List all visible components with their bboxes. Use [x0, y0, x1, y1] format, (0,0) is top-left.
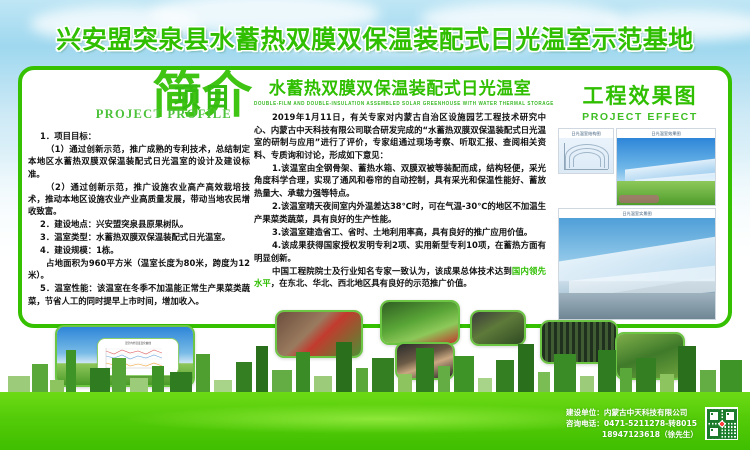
conclusion-post: ，在东北、华北、西北地区具有良好的示范推广价值。: [271, 278, 472, 288]
phone-value: 0471-5211278-转8015: [604, 419, 697, 428]
left-para: 1．项目目标：: [28, 130, 250, 142]
effect-card-caption: 日光温室结构图: [559, 129, 613, 138]
structure-diagram-image: [559, 138, 613, 173]
left-para: （1）通过创新示范，推广成熟的专利技术，总结制定本地区水蓄热双膜双保温装配式日光…: [28, 143, 250, 180]
middle-body-text: 2019年1月11日，有关专家对内蒙古自治区设施园艺工程技术研究中心、内蒙古中天…: [254, 111, 546, 290]
middle-heading-en: DOUBLE-FILM AND DOUBLE-INSULATION ASSEMB…: [254, 101, 546, 107]
mid-para: 4.该成果获得国家授权发明专利2项、实用新型专利10项，在蓄热方面有明显创新。: [254, 239, 546, 264]
right-heading-en: PROJECT EFFECT: [550, 111, 728, 123]
poster-main-title: 兴安盟突泉县水蓄热双膜双保温装配式日光温室示范基地: [56, 22, 694, 58]
left-para: 4．建设规模：1栋。: [28, 244, 250, 256]
mid-para: 1.该温室由全钢骨架、蓄热水箱、双膜双被等装配而成，结构轻便，采光角度科学合理，…: [254, 162, 546, 200]
left-body-text: 1．项目目标： （1）通过创新示范，推广成熟的专利技术，总结制定本地区水蓄热双膜…: [28, 130, 250, 307]
qr-code-pattern: [707, 409, 737, 439]
left-heading: 简介 项目 PROJECT PROFILE: [28, 74, 250, 130]
ground-highlight: [120, 404, 640, 434]
content-frame: 简介 项目 PROJECT PROFILE 1．项目目标： （1）通过创新示范，…: [18, 66, 732, 328]
footer-phone-row: 咨询电话：0471-5211278-转8015: [566, 418, 698, 429]
effect-card-caption: 日光温室实景图: [559, 209, 715, 218]
main-title-band: 兴安盟突泉县水蓄热双膜双保温装配式日光温室示范基地: [0, 22, 750, 58]
qr-center-logo: [719, 421, 725, 427]
city-skyline: [0, 336, 750, 398]
effect-card-structure[interactable]: 日光温室结构图: [558, 128, 614, 174]
middle-column: 水蓄热双膜双保温装配式日光温室 DOUBLE-FILM AND DOUBLE-I…: [254, 74, 546, 324]
builder-value: 内蒙古中天科技有限公司: [604, 408, 688, 417]
middle-heading: 水蓄热双膜双保温装配式日光温室 DOUBLE-FILM AND DOUBLE-I…: [254, 74, 546, 106]
middle-heading-cn: 水蓄热双膜双保温装配式日光温室: [254, 74, 546, 99]
mobile-value: 18947123618（徐先生）: [602, 430, 698, 439]
footer-contact: 建设单位：内蒙古中天科技有限公司 咨询电话：0471-5211278-转8015…: [566, 407, 738, 440]
qr-code[interactable]: [705, 407, 738, 440]
conclusion-pre: 中国工程院院士及行业知名专家一致认为，该成果总体技术达到: [272, 266, 512, 276]
right-heading: 工程效果图 PROJECT EFFECT: [550, 74, 728, 123]
phone-label: 咨询电话：: [566, 419, 604, 428]
builder-label: 建设单位：: [566, 408, 604, 417]
effect-card-caption: 日光温室效果图: [617, 129, 715, 138]
footer-text-block: 建设单位：内蒙古中天科技有限公司 咨询电话：0471-5211278-转8015…: [566, 407, 698, 440]
effect-card-rendering[interactable]: 日光温室效果图: [616, 128, 716, 206]
poster-canvas: 兴安盟突泉县水蓄热双膜双保温装配式日光温室示范基地 简介 项目 PROJECT …: [0, 0, 750, 450]
left-para: （2）通过创新示范，推广设施农业高产高效栽培技术，推动本地区设施农业产业高质量发…: [28, 181, 250, 218]
left-para: 3．温室类型：水蓄热双膜双保温装配式日光温室。: [28, 231, 250, 243]
footer-builder-row: 建设单位：内蒙古中天科技有限公司: [566, 407, 698, 418]
right-column: 工程效果图 PROJECT EFFECT 日光温室结构图: [550, 74, 728, 324]
left-para: 占地面积为960平方米（温室长度为80米，跨度为12米）。: [28, 257, 250, 282]
left-heading-en: PROJECT PROFILE: [96, 107, 232, 122]
mid-para: 3.该温室建造省工、省时、土地利用率高，具有良好的推广应用价值。: [254, 226, 546, 239]
mid-para: 2.该温室晴天夜间室内外温差达38℃时，可在气温-30℃的地区不加温生产果菜类蔬…: [254, 200, 546, 225]
greenhouse-rendering-image: [617, 138, 715, 205]
mid-para: 2019年1月11日，有关专家对内蒙古自治区设施园艺工程技术研究中心、内蒙古中天…: [254, 111, 546, 161]
right-heading-cn: 工程效果图: [550, 80, 728, 110]
left-column: 简介 项目 PROJECT PROFILE 1．项目目标： （1）通过创新示范，…: [28, 74, 250, 324]
left-para: 2．建设地点：兴安盟突泉县原果树队。: [28, 218, 250, 230]
mid-conclusion: 中国工程院院士及行业知名专家一致认为，该成果总体技术达到国内领先水平，在东北、华…: [254, 265, 546, 290]
footer-mobile-row: 18947123618（徐先生）: [566, 429, 698, 440]
